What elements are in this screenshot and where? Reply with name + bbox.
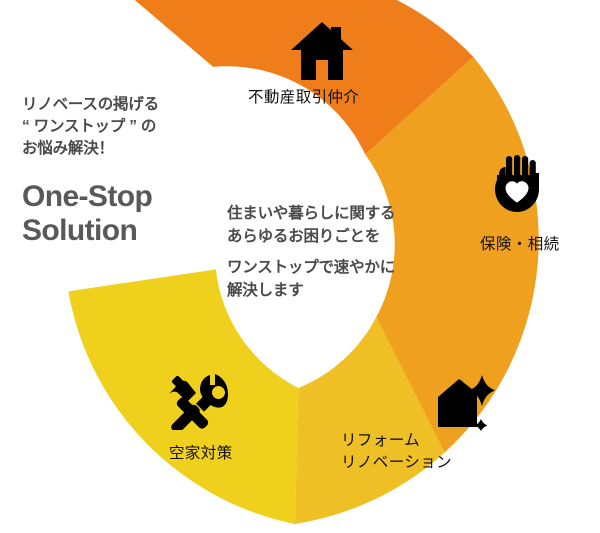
infographic-canvas: リノベースの掲げる “ ワンストップ ” の お悩み解決！ One-Stop S… xyxy=(0,0,600,533)
hand-heart-icon xyxy=(493,155,541,213)
page-title-line-2: Solution xyxy=(22,214,222,248)
segment-label-realestate: 不動産取引仲介 xyxy=(248,87,359,109)
lead-line-2: “ ワンストップ ” の xyxy=(22,116,222,138)
segment-label-insurance: 保険・相続 xyxy=(480,234,560,256)
center-copy-spacer xyxy=(227,248,457,257)
lead-line-3: お悩み解決！ xyxy=(22,138,222,160)
page-title: One-Stop Solution xyxy=(22,180,222,248)
segment-label-reform: リフォーム リノベーション xyxy=(341,430,452,474)
center-line-3: ワンストップで速やかに xyxy=(227,257,457,280)
page-title-line-1: One-Stop xyxy=(22,180,222,214)
house-sparkle-icon xyxy=(437,375,495,431)
house-icon xyxy=(291,22,353,80)
center-copy-block: 住まいや暮らしに関する あらゆるお困りごとを ワンストップで速やかに 解決します xyxy=(227,203,457,303)
lead-line-1: リノベースの掲げる xyxy=(22,94,222,116)
segment-label-reform-line-1: リフォーム xyxy=(341,430,452,452)
hammer-wrench-icon xyxy=(168,372,228,430)
center-line-4: 解決します xyxy=(227,280,457,303)
center-line-2: あらゆるお困りごとを xyxy=(227,226,457,249)
left-headline-block: リノベースの掲げる “ ワンストップ ” の お悩み解決！ One-Stop S… xyxy=(22,94,222,248)
segment-label-reform-line-2: リノベーション xyxy=(341,452,452,474)
segment-label-vacant: 空家対策 xyxy=(169,443,233,465)
center-line-1: 住まいや暮らしに関する xyxy=(227,203,457,226)
